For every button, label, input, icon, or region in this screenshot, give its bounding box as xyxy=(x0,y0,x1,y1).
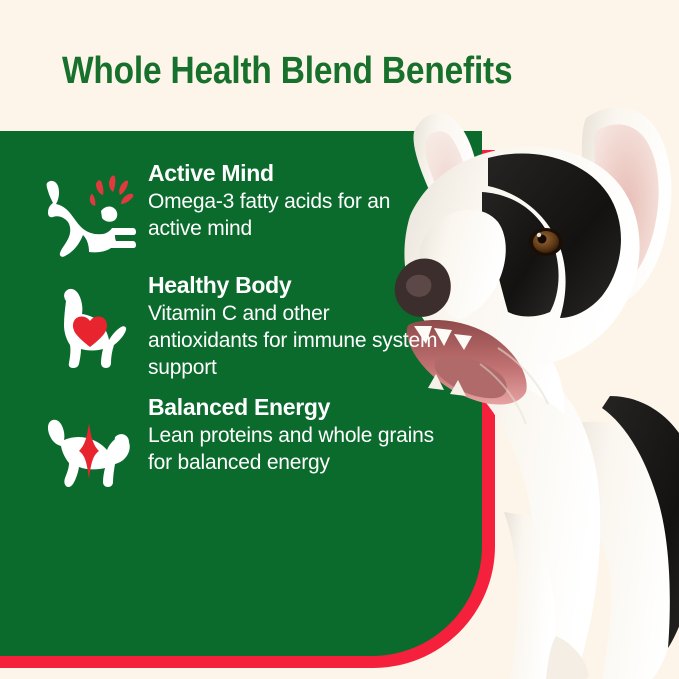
benefit-heading: Active Mind xyxy=(148,159,476,187)
dog-walking-with-star-icon xyxy=(30,393,148,489)
benefit-text-block: Healthy Body Vitamin C and other antioxi… xyxy=(148,271,482,381)
dog-standing-with-heart-icon xyxy=(30,271,148,371)
benefits-list: Active Mind Omega-3 fatty acids for an a… xyxy=(30,131,482,656)
benefit-item-balanced-energy: Balanced Energy Lean proteins and whole … xyxy=(30,393,482,489)
benefit-body: Vitamin C and other antioxidants for imm… xyxy=(148,300,438,381)
benefit-item-active-mind: Active Mind Omega-3 fatty acids for an a… xyxy=(30,159,482,259)
benefit-body: Lean proteins and whole grains for balan… xyxy=(148,422,438,476)
benefit-item-healthy-body: Healthy Body Vitamin C and other antioxi… xyxy=(30,271,482,381)
page-title: Whole Health Blend Benefits xyxy=(62,48,555,94)
benefit-text-block: Balanced Energy Lean proteins and whole … xyxy=(148,393,482,476)
benefit-body: Omega-3 fatty acids for an active mind xyxy=(148,188,438,242)
benefit-heading: Healthy Body xyxy=(148,271,476,299)
benefit-text-block: Active Mind Omega-3 fatty acids for an a… xyxy=(148,159,482,242)
benefit-heading: Balanced Energy xyxy=(148,393,476,421)
dog-play-bow-with-sparks-icon xyxy=(30,159,148,259)
promo-banner: Whole Health Blend Benefits xyxy=(0,0,679,679)
